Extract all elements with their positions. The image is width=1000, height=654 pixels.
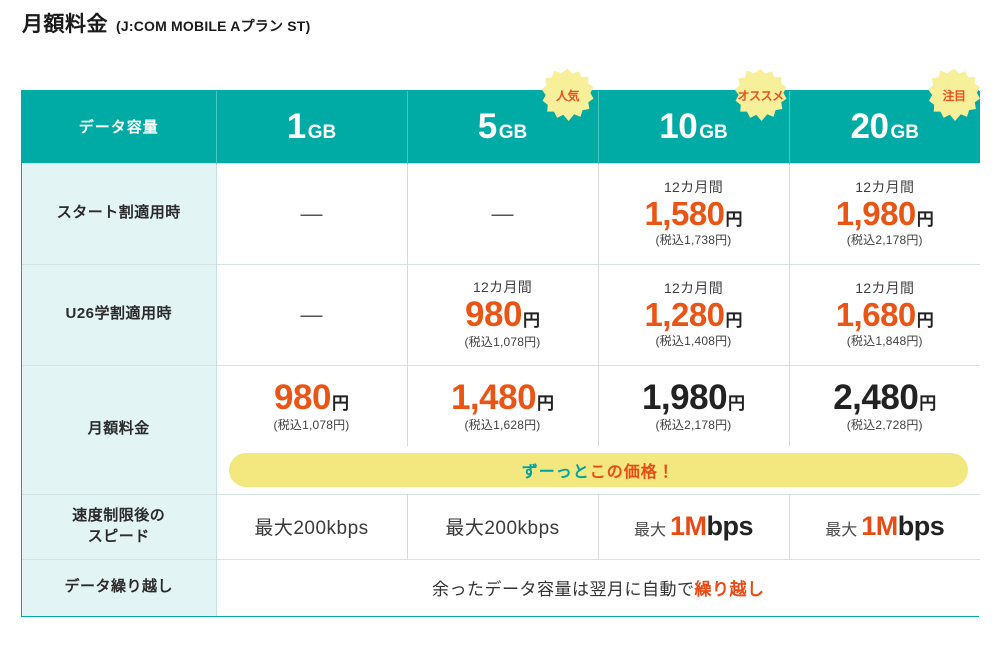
badge-attention: 注目	[928, 69, 980, 121]
speed-main-rest: bps	[898, 511, 945, 541]
pricing-page: 月額料金 (J:COM MOBILE Aプラン ST) データ容量 1	[0, 0, 1000, 654]
capacity-1gb: 1 GB	[287, 109, 336, 144]
dash-placeholder: —	[301, 201, 323, 226]
speed-value: 最大 1Mbps	[634, 511, 753, 542]
price-currency: 円	[917, 312, 934, 329]
capacity-1gb-unit: GB	[308, 123, 337, 142]
dash-placeholder: —	[301, 302, 323, 327]
badge-popular: 人気	[542, 69, 594, 121]
price-currency: 円	[523, 312, 540, 329]
row-label-start-discount: スタート割適用時	[22, 163, 216, 264]
cell-price-banner: ずーっとこの価格！	[216, 446, 980, 495]
carryover-text: 余ったデータ容量は翌月に自動で繰り越し	[432, 580, 765, 599]
price-term: 12カ月間	[855, 281, 914, 296]
cell-u26-discount-5gb: 12カ月間 980 円 (税込1,078円)	[407, 264, 598, 365]
header-data-capacity: データ容量	[22, 91, 216, 163]
capacity-20gb-unit: GB	[890, 123, 919, 142]
table-header-row: データ容量 1 GB 人気 5 GB	[22, 91, 980, 163]
price-block: 12カ月間 1,580 円 (税込1,738円)	[599, 180, 789, 246]
price-term: 12カ月間	[473, 280, 532, 295]
cell-speed-1gb: 最大200kbps	[216, 494, 407, 559]
pricing-table-wrapper: データ容量 1 GB 人気 5 GB	[21, 90, 979, 617]
row-label-speed-line2: スピード	[88, 528, 150, 545]
price-amount: 1,980 円	[642, 380, 745, 415]
pricing-table: データ容量 1 GB 人気 5 GB	[22, 91, 980, 616]
speed-prefix: 最大	[825, 516, 857, 540]
page-title-sub: (J:COM MOBILE Aプラン ST)	[116, 16, 310, 36]
price-tax-included: (税込2,728円)	[847, 419, 923, 432]
cell-start-discount-10gb: 12カ月間 1,580 円 (税込1,738円)	[598, 163, 789, 264]
cell-data-carryover-value: 余ったデータ容量は翌月に自動で繰り越し	[216, 559, 980, 616]
table-row-monthly-fee: 月額料金 980 円 (税込1,078円)	[22, 365, 980, 446]
price-number: 1,980	[836, 197, 916, 230]
cell-speed-5gb: 最大200kbps	[407, 494, 598, 559]
cell-u26-discount-10gb: 12カ月間 1,280 円 (税込1,408円)	[598, 264, 789, 365]
cell-speed-10gb: 最大 1Mbps	[598, 494, 789, 559]
price-amount: 2,480 円	[833, 380, 936, 415]
header-column-5gb: 人気 5 GB	[407, 91, 598, 163]
page-title-main: 月額料金	[22, 8, 108, 38]
speed-prefix: 最大	[634, 516, 666, 540]
price-number: 1,580	[644, 197, 724, 230]
price-number: 1,480	[451, 380, 536, 415]
table-body: スタート割適用時 — — 12カ月間 1,580 円	[22, 163, 980, 616]
price-amount: 1,980 円	[836, 197, 934, 230]
cell-start-discount-5gb: —	[407, 163, 598, 264]
table-row-speed-after-limit: 速度制限後の スピード 最大200kbps 最大200kbps 最大 1Mbps	[22, 494, 980, 559]
price-block: 12カ月間 1,280 円 (税込1,408円)	[599, 281, 789, 347]
price-amount: 1,480 円	[451, 380, 554, 415]
price-number: 980	[465, 297, 522, 332]
cell-u26-discount-1gb: —	[216, 264, 407, 365]
capacity-10gb: 10 GB	[659, 109, 727, 144]
table-row-start-discount: スタート割適用時 — — 12カ月間 1,580 円	[22, 163, 980, 264]
price-number: 1,980	[642, 380, 727, 415]
price-term: 12カ月間	[664, 180, 723, 195]
price-tax-included: (税込2,178円)	[655, 419, 731, 432]
badge-recommended: オススメ	[735, 69, 787, 121]
banner-text-teal: ずーっと	[522, 458, 590, 482]
header-data-capacity-label: データ容量	[79, 119, 159, 136]
cell-start-discount-1gb: —	[216, 163, 407, 264]
price-amount: 1,680 円	[836, 298, 934, 331]
cell-start-discount-20gb: 12カ月間 1,980 円 (税込2,178円)	[789, 163, 980, 264]
price-currency: 円	[728, 395, 745, 412]
forever-price-banner: ずーっとこの価格！	[229, 453, 969, 487]
price-block: 980 円 (税込1,078円)	[217, 380, 407, 432]
table-row-u26-discount: U26学割適用時 — 12カ月間 980 円 (税込1,078円)	[22, 264, 980, 365]
capacity-10gb-number: 10	[659, 109, 697, 144]
price-block: 12カ月間 980 円 (税込1,078円)	[408, 280, 598, 348]
header-column-10gb: オススメ 10 GB	[598, 91, 789, 163]
price-term: 12カ月間	[664, 281, 723, 296]
row-label-monthly-fee: 月額料金	[22, 365, 216, 494]
speed-main-highlight: 1M	[670, 511, 707, 541]
price-tax-included: (税込1,078円)	[464, 336, 540, 349]
carryover-text-normal: 余ったデータ容量は翌月に自動で	[432, 580, 695, 599]
price-currency: 円	[917, 211, 934, 228]
speed-main: 1Mbps	[670, 511, 753, 542]
row-label-data-carryover: データ繰り越し	[22, 559, 216, 616]
capacity-5gb-number: 5	[478, 109, 497, 144]
capacity-10gb-unit: GB	[699, 123, 728, 142]
price-number: 2,480	[833, 380, 918, 415]
cell-monthly-fee-1gb: 980 円 (税込1,078円)	[216, 365, 407, 446]
price-tax-included: (税込1,408円)	[655, 335, 731, 348]
price-block: 12カ月間 1,980 円 (税込2,178円)	[790, 180, 981, 246]
cell-monthly-fee-5gb: 1,480 円 (税込1,628円)	[407, 365, 598, 446]
speed-value: 最大 1Mbps	[825, 511, 944, 542]
table-header: データ容量 1 GB 人気 5 GB	[22, 91, 980, 163]
banner-text-orange: この価格！	[590, 458, 675, 482]
price-amount: 980 円	[274, 380, 349, 415]
carryover-text-highlight: 繰り越し	[695, 580, 765, 599]
price-number: 1,280	[644, 298, 724, 331]
price-currency: 円	[537, 395, 554, 412]
capacity-20gb: 20 GB	[851, 109, 919, 144]
price-currency: 円	[919, 395, 936, 412]
price-block: 1,980 円 (税込2,178円)	[599, 380, 789, 432]
price-term: 12カ月間	[855, 180, 914, 195]
cell-monthly-fee-20gb: 2,480 円 (税込2,728円)	[789, 365, 980, 446]
price-amount: 1,280 円	[644, 298, 742, 331]
header-column-20gb: 注目 20 GB	[789, 91, 980, 163]
speed-main-highlight: 1M	[861, 511, 898, 541]
price-currency: 円	[332, 395, 349, 412]
speed-value: 最大200kbps	[254, 518, 368, 539]
price-tax-included: (税込1,078円)	[273, 419, 349, 432]
cell-u26-discount-20gb: 12カ月間 1,680 円 (税込1,848円)	[789, 264, 980, 365]
capacity-5gb: 5 GB	[478, 109, 527, 144]
price-tax-included: (税込1,628円)	[464, 419, 540, 432]
price-number: 1,680	[836, 298, 916, 331]
speed-main: 1Mbps	[861, 511, 944, 542]
price-tax-included: (税込1,738円)	[655, 234, 731, 247]
capacity-20gb-number: 20	[851, 109, 889, 144]
capacity-5gb-unit: GB	[499, 123, 528, 142]
price-tax-included: (税込2,178円)	[847, 234, 923, 247]
price-currency: 円	[726, 211, 743, 228]
price-block: 12カ月間 1,680 円 (税込1,848円)	[790, 281, 981, 347]
price-block: 1,480 円 (税込1,628円)	[408, 380, 598, 432]
cell-speed-20gb: 最大 1Mbps	[789, 494, 980, 559]
table-row-data-carryover: データ繰り越し 余ったデータ容量は翌月に自動で繰り越し	[22, 559, 980, 616]
capacity-1gb-number: 1	[287, 109, 306, 144]
row-label-speed-after-limit: 速度制限後の スピード	[22, 494, 216, 559]
page-title: 月額料金 (J:COM MOBILE Aプラン ST)	[22, 8, 310, 38]
cell-monthly-fee-10gb: 1,980 円 (税込2,178円)	[598, 365, 789, 446]
price-currency: 円	[726, 312, 743, 329]
speed-main-rest: bps	[707, 511, 754, 541]
dash-placeholder: —	[492, 201, 514, 226]
price-amount: 1,580 円	[644, 197, 742, 230]
price-amount: 980 円	[465, 297, 540, 332]
price-number: 980	[274, 380, 331, 415]
header-column-1gb: 1 GB	[216, 91, 407, 163]
speed-value: 最大200kbps	[445, 518, 559, 539]
row-label-speed-line1: 速度制限後の	[72, 507, 165, 524]
price-block: 2,480 円 (税込2,728円)	[790, 380, 981, 432]
price-tax-included: (税込1,848円)	[847, 335, 923, 348]
row-label-u26-discount: U26学割適用時	[22, 264, 216, 365]
